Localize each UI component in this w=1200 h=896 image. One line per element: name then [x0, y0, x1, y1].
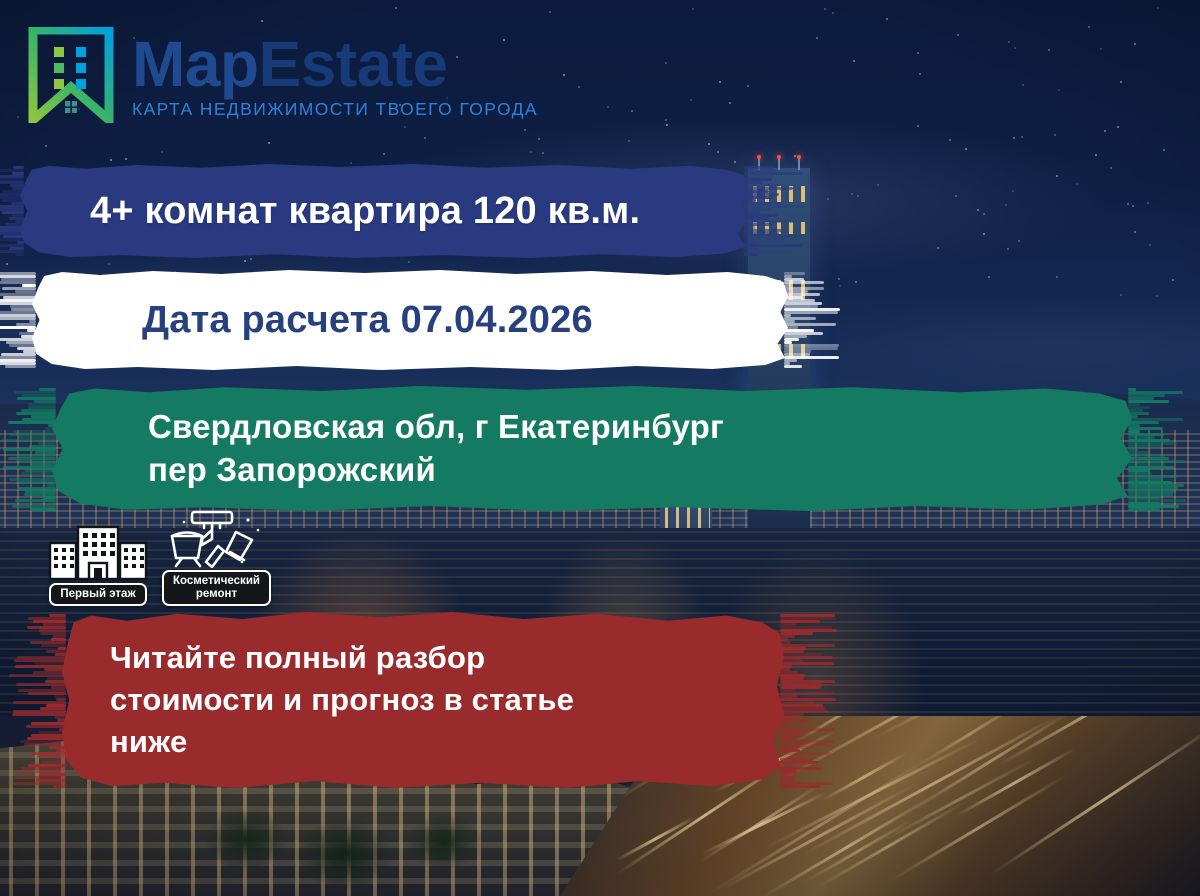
calculation-date-text: Дата расчета 07.04.2026 — [32, 299, 788, 342]
address-line-region-city: Свердловская обл, г Екатеринбург — [148, 406, 1132, 448]
brand-tagline: КАРТА НЕДВИЖИМОСТИ ТВОЕГО ГОРОДА — [132, 99, 538, 120]
badge-cosmetic-renovation-label: Косметический ремонт — [162, 570, 271, 606]
calculation-date-band: Дата расчета 07.04.2026 — [32, 270, 788, 370]
badge-first-floor-label: Первый этаж — [49, 583, 146, 606]
cta-band: Читайте полный разбор стоимости и прогно… — [62, 612, 784, 788]
badge-first-floor[interactable]: Первый этаж — [46, 526, 150, 606]
cta-line-3: ниже — [110, 721, 784, 763]
cta-line-2: стоимости и прогноз в статье — [110, 679, 784, 721]
cta-line-1: Читайте полный разбор — [110, 637, 784, 679]
address-band: Свердловская обл, г Екатеринбург пер Зап… — [52, 386, 1132, 511]
bookmark-building-logo-icon — [28, 27, 114, 123]
apartment-building-icon — [46, 526, 150, 581]
rooms-area-band: 4+ комнат квартира 120 кв.м. — [20, 164, 748, 258]
brand-wordmark: MapEstate КАРТА НЕДВИЖИМОСТИ ТВОЕГО ГОРО… — [132, 30, 538, 120]
address-line-street: пер Запорожский — [148, 449, 1132, 491]
rooms-area-text: 4+ комнат квартира 120 кв.м. — [20, 190, 748, 233]
cta-text: Читайте полный разбор стоимости и прогно… — [62, 637, 784, 763]
feature-badges: Первый этаж — [46, 513, 271, 606]
property-promo-poster: MapEstate КАРТА НЕДВИЖИМОСТИ ТВОЕГО ГОРО… — [0, 0, 1200, 896]
brand-header: MapEstate КАРТА НЕДВИЖИМОСТИ ТВОЕГО ГОРО… — [0, 0, 1200, 150]
badge-cosmetic-renovation[interactable]: Косметический ремонт — [162, 513, 271, 606]
brand-name-estate: Estate — [259, 28, 448, 100]
paint-tools-icon — [164, 513, 268, 568]
brand-name-map: Map — [132, 28, 259, 100]
brand-name: MapEstate — [132, 34, 538, 95]
address-text: Свердловская обл, г Екатеринбург пер Зап… — [52, 406, 1132, 490]
